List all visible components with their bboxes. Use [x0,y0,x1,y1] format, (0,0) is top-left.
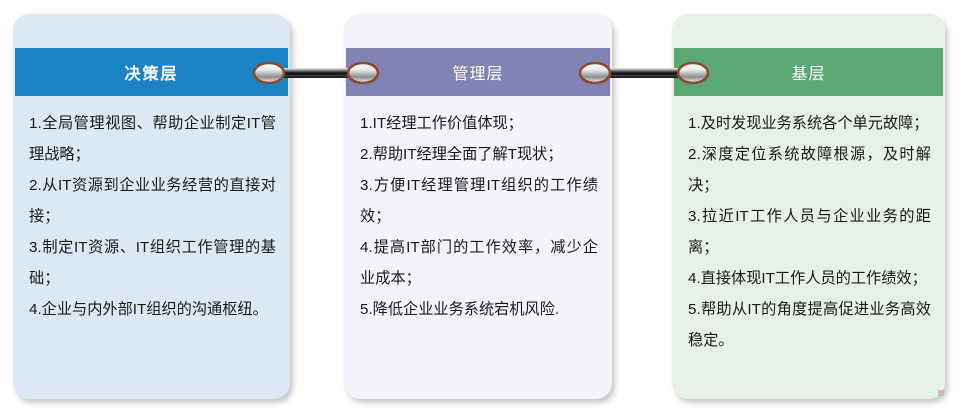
list-item: 4.提高IT部门的工作效率，减少企业成本； [360,232,598,294]
diagram-canvas: 决策层 1.全局管理视图、帮助企业制定IT管理战略； 2.从IT资源到企业业务经… [0,0,960,416]
card-decision-body: 1.全局管理视图、帮助企业制定IT管理战略； 2.从IT资源到企业业务经营的直接… [13,96,290,399]
card-management-header: 管理层 [346,48,610,96]
list-item: 3.拉近IT工作人员与企业业务的距离； [688,201,931,263]
card-base-body: 1.及时发现业务系统各个单元故障； 2.深度定位系统故障根源，及时解决； 3.拉… [672,96,945,399]
decoration-tick [938,390,944,396]
card-decision[interactable]: 决策层 1.全局管理视图、帮助企业制定IT管理战略； 2.从IT资源到企业业务经… [13,14,290,399]
list-item: 1.IT经理工作价值体现； [360,108,598,139]
card-management-body: 1.IT经理工作价值体现； 2.帮助IT经理全面了解T现状； 3.方便IT经理管… [344,96,612,399]
list-item: 5.帮助从IT的角度提高促进业务高效稳定。 [688,294,931,356]
card-base-header: 基层 [674,48,943,96]
list-item: 1.及时发现业务系统各个单元故障； [688,108,931,139]
list-item: 1.全局管理视图、帮助企业制定IT管理战略； [29,108,276,170]
card-decision-header: 决策层 [15,48,288,96]
card-decision-title: 决策层 [124,60,178,84]
list-item: 2.从IT资源到企业业务经营的直接对接； [29,170,276,232]
list-item: 4.企业与内外部IT组织的沟通枢纽。 [29,294,276,325]
list-item: 5.降低企业业务系统宕机风险. [360,294,598,325]
card-management-title: 管理层 [452,60,503,84]
list-item: 3.制定IT资源、IT组织工作管理的基础； [29,232,276,294]
card-base[interactable]: 基层 1.及时发现业务系统各个单元故障； 2.深度定位系统故障根源，及时解决； … [672,14,945,399]
list-item: 2.帮助IT经理全面了解T现状； [360,139,598,170]
list-item: 2.深度定位系统故障根源，及时解决； [688,139,931,201]
card-management[interactable]: 管理层 1.IT经理工作价值体现； 2.帮助IT经理全面了解T现状； 3.方便I… [344,14,612,399]
card-base-title: 基层 [791,60,825,84]
list-item: 3.方便IT经理管理IT组织的工作绩效； [360,170,598,232]
list-item: 4.直接体现IT工作人员的工作绩效； [688,263,931,294]
